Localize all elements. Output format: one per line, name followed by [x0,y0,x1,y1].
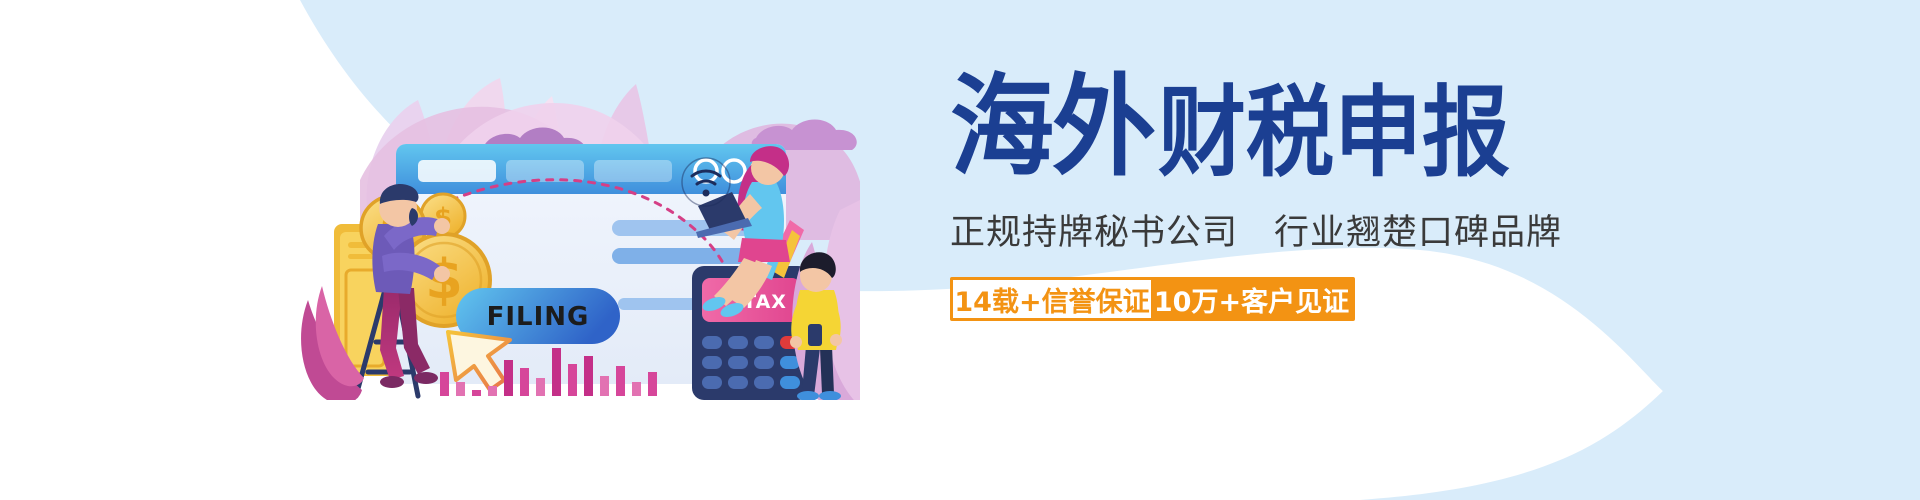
filing-button-label: FILING [487,302,590,332]
promo-banner: $ $ $ [0,0,1920,500]
headline-main: 海外 [950,72,1154,182]
badge-customers: 10万+客户见证 [1151,280,1352,318]
hero-illustration: $ $ $ [300,60,860,400]
banner-text-block: 海外 财税申报 正规持牌秘书公司 行业翘楚口碑品牌 14载+信誉保证 10万+客… [950,78,1690,321]
badge-credibility: 14载+信誉保证 [953,280,1151,318]
headline: 海外 财税申报 [950,78,1690,182]
subtitle: 正规持牌秘书公司 行业翘楚口碑品牌 [950,204,1690,255]
headline-sub: 财税申报 [1158,83,1510,182]
badge-group: 14载+信誉保证 10万+客户见证 [950,277,1355,321]
